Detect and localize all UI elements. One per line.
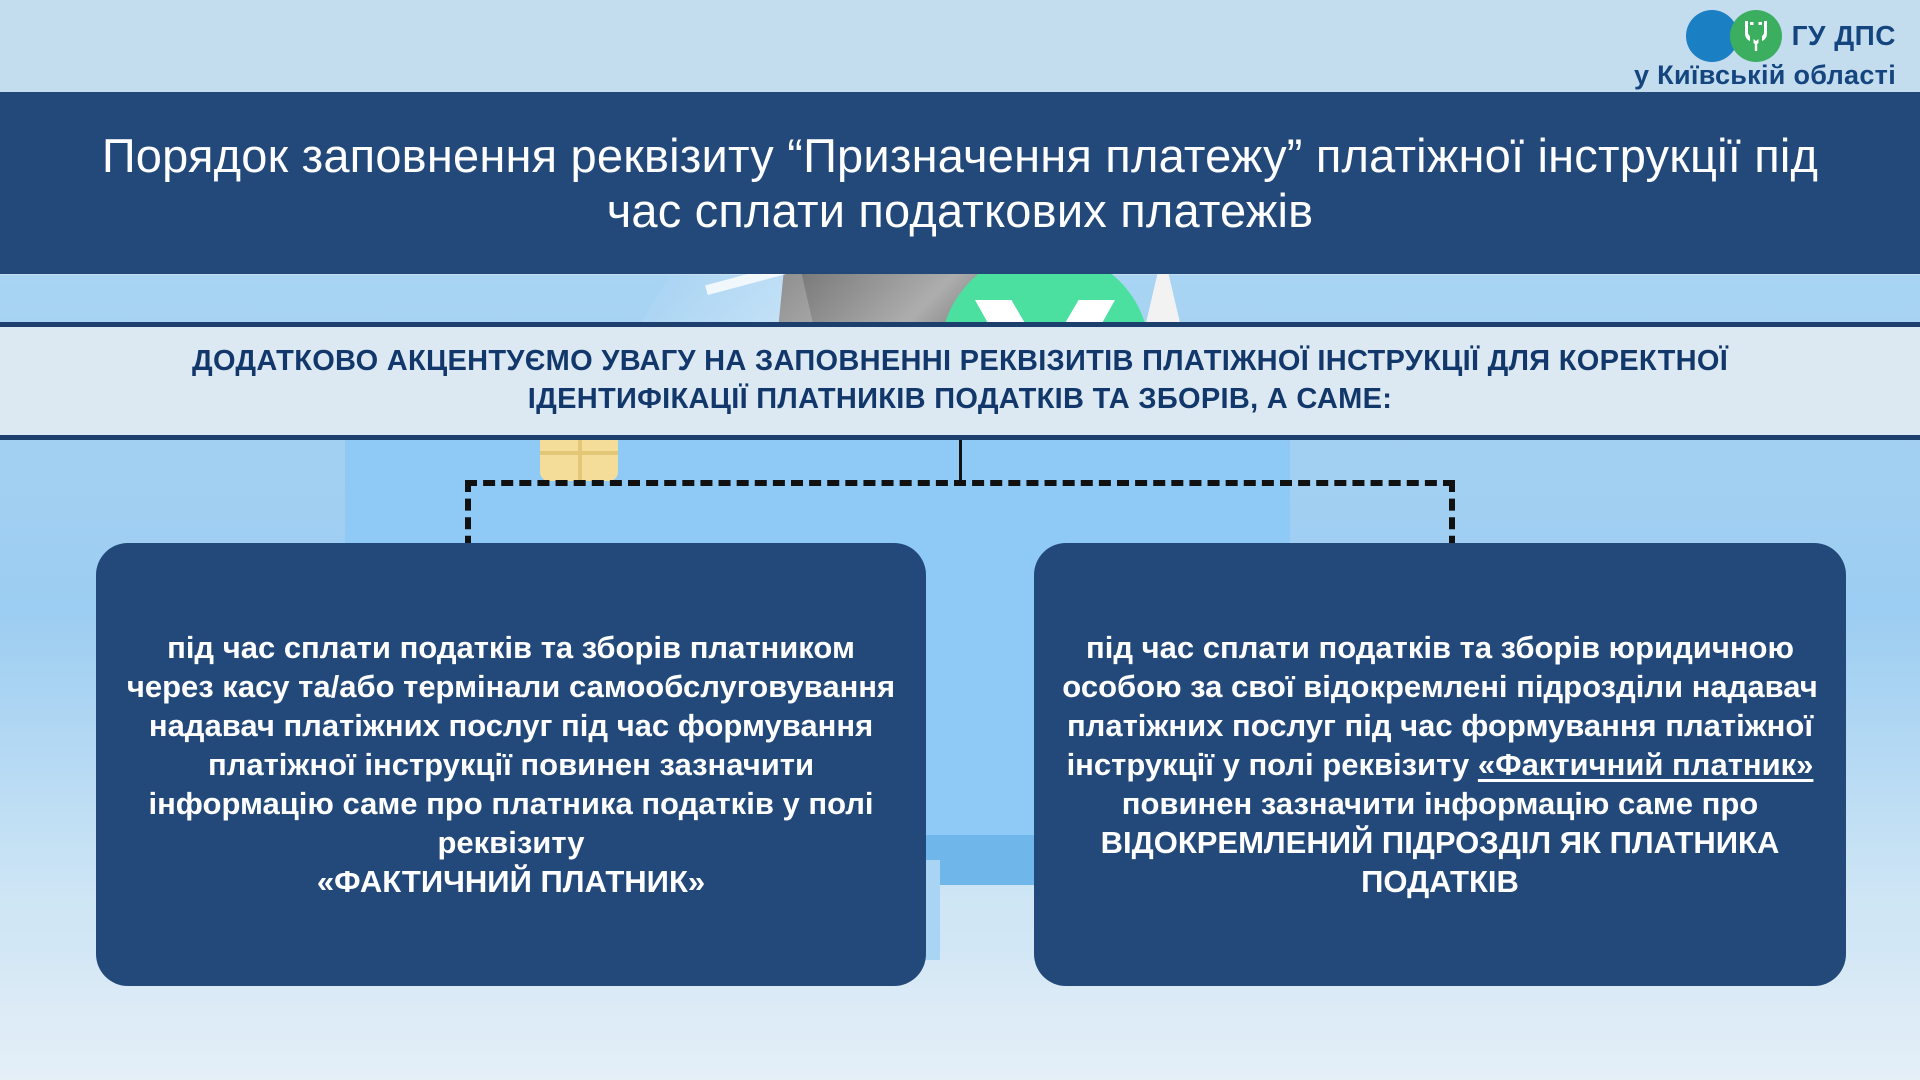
organization-logo: ГУ ДПС у Київській області <box>1634 10 1896 91</box>
trident-icon <box>1743 19 1769 53</box>
title-banner: Порядок заповнення реквізиту “Призначенн… <box>0 92 1920 274</box>
logo-green-circle-icon <box>1730 10 1782 62</box>
info-box-right-highlight: ВІДОКРЕМЛЕНИЙ ПІДРОЗДІЛ ЯК ПЛАТНИКА ПОДА… <box>1060 823 1820 901</box>
logo-line-1: ГУ ДПС <box>1792 20 1896 52</box>
subtitle-text: ДОДАТКОВО АКЦЕНТУЄМО УВАГУ НА ЗАПОВНЕННІ… <box>90 343 1830 418</box>
info-box-right: під час сплати податків та зборів юридич… <box>1034 543 1846 986</box>
info-box-right-body: під час сплати податків та зборів юридич… <box>1060 628 1820 823</box>
connector-horizontal-dashed <box>465 480 1455 486</box>
info-box-right-body-part2: повинен зазначити інформацію саме про <box>1122 786 1758 821</box>
card-chip-line-h <box>540 451 618 455</box>
logo-line-2: у Київській області <box>1634 60 1896 91</box>
info-box-left-body: під час сплати податків та зборів платни… <box>122 628 900 862</box>
logo-row: ГУ ДПС <box>1686 10 1896 62</box>
info-box-left: під час сплати податків та зборів платни… <box>96 543 926 986</box>
subtitle-band: ДОДАТКОВО АКЦЕНТУЄМО УВАГУ НА ЗАПОВНЕННІ… <box>0 322 1920 440</box>
page-title: Порядок заповнення реквізиту “Призначенн… <box>60 128 1860 239</box>
slide-root: ГУ ДПС у Київській області Порядок запов… <box>0 0 1920 1080</box>
info-box-left-highlight: «ФАКТИЧНИЙ ПЛАТНИК» <box>317 862 705 901</box>
info-box-right-underlined-term: «Фактичний платник» <box>1478 747 1814 782</box>
